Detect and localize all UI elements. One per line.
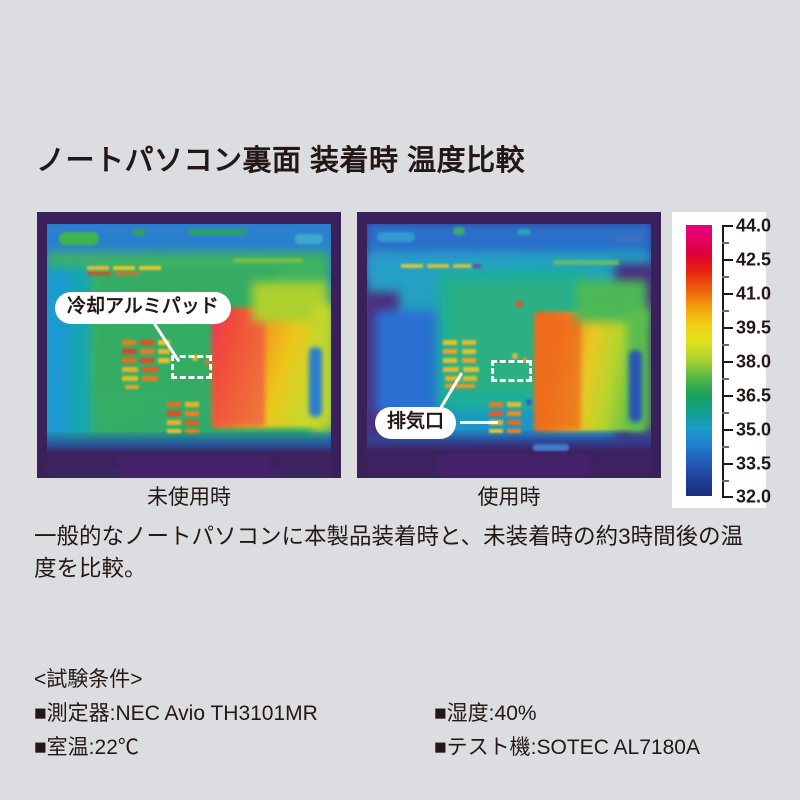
colorbar-label-0: 44.0 bbox=[736, 216, 771, 237]
test-conditions: <試験条件> ■測定器:NEC Avio TH3101MR ■湿度:40% ■室… bbox=[34, 663, 774, 765]
colorbar-tick-minor bbox=[722, 446, 729, 448]
colorbar-tick-major bbox=[722, 259, 733, 261]
callout-leader-right-2 bbox=[460, 421, 498, 424]
colorbar-label-6: 35.0 bbox=[736, 420, 771, 441]
colorbar-tick-major bbox=[722, 361, 733, 363]
marker-box-right bbox=[491, 360, 532, 382]
colorbar-tick-minor bbox=[722, 276, 729, 278]
colorbar-tick-major bbox=[722, 429, 733, 431]
test-conditions-row: ■室温:22℃ ■テスト機:SOTEC AL7180A bbox=[34, 731, 774, 765]
colorbar-label-5: 36.5 bbox=[736, 386, 771, 407]
colorbar-label-7: 33.5 bbox=[736, 454, 771, 475]
colorbar-tick-major bbox=[722, 293, 733, 295]
thermal-image-left: 冷却アルミパッド bbox=[37, 212, 341, 478]
colorbar-tick-minor bbox=[722, 344, 729, 346]
test-conditions-heading: <試験条件> bbox=[34, 663, 774, 693]
colorbar-label-4: 38.0 bbox=[736, 352, 771, 373]
condition-item-room-temp: ■室温:22℃ bbox=[34, 731, 139, 761]
colorbar-gradient bbox=[686, 225, 712, 496]
colorbar-tick-minor bbox=[722, 242, 729, 244]
test-conditions-grid: ■測定器:NEC Avio TH3101MR ■湿度:40% ■室温:22℃ ■… bbox=[34, 697, 774, 765]
temperature-colorbar: 44.0 42.5 41.0 39.5 38.0 36.5 35.0 33.5 … bbox=[672, 212, 766, 508]
page-root: ノートパソコン裏面 装着時 温度比較 bbox=[0, 0, 800, 800]
colorbar-label-3: 39.5 bbox=[736, 318, 771, 339]
callout-right: 排気口 bbox=[375, 407, 456, 439]
condition-item-humidity: ■湿度:40% bbox=[434, 697, 537, 727]
colorbar-label-8: 32.0 bbox=[736, 487, 771, 508]
thermal-image-right: 排気口 bbox=[357, 212, 661, 478]
colorbar-tick-major bbox=[722, 395, 733, 397]
colorbar-tick-minor bbox=[722, 412, 729, 414]
description-text: 一般的なノートパソコンに本製品装着時と、未装着時の約3時間後の温度を比較。 bbox=[34, 521, 764, 585]
thermal-map-left-graphic bbox=[37, 212, 341, 478]
callout-left: 冷却アルミパッド bbox=[55, 292, 231, 324]
caption-right: 使用時 bbox=[357, 481, 661, 511]
colorbar-tick-major bbox=[722, 463, 733, 465]
colorbar-tick-major bbox=[722, 327, 733, 329]
condition-item-instrument: ■測定器:NEC Avio TH3101MR bbox=[34, 697, 318, 727]
colorbar-tick-minor bbox=[722, 480, 729, 482]
colorbar-tick-major bbox=[722, 225, 733, 227]
page-title: ノートパソコン裏面 装着時 温度比較 bbox=[36, 137, 525, 179]
colorbar-label-2: 41.0 bbox=[736, 284, 771, 305]
colorbar-tick-major bbox=[722, 496, 733, 498]
condition-item-test-machine: ■テスト機:SOTEC AL7180A bbox=[434, 731, 700, 761]
colorbar-tick-minor bbox=[722, 378, 729, 380]
colorbar-label-1: 42.5 bbox=[736, 250, 771, 271]
test-conditions-row: ■測定器:NEC Avio TH3101MR ■湿度:40% bbox=[34, 697, 774, 731]
caption-left: 未使用時 bbox=[37, 481, 341, 511]
colorbar-tick-minor bbox=[722, 310, 729, 312]
